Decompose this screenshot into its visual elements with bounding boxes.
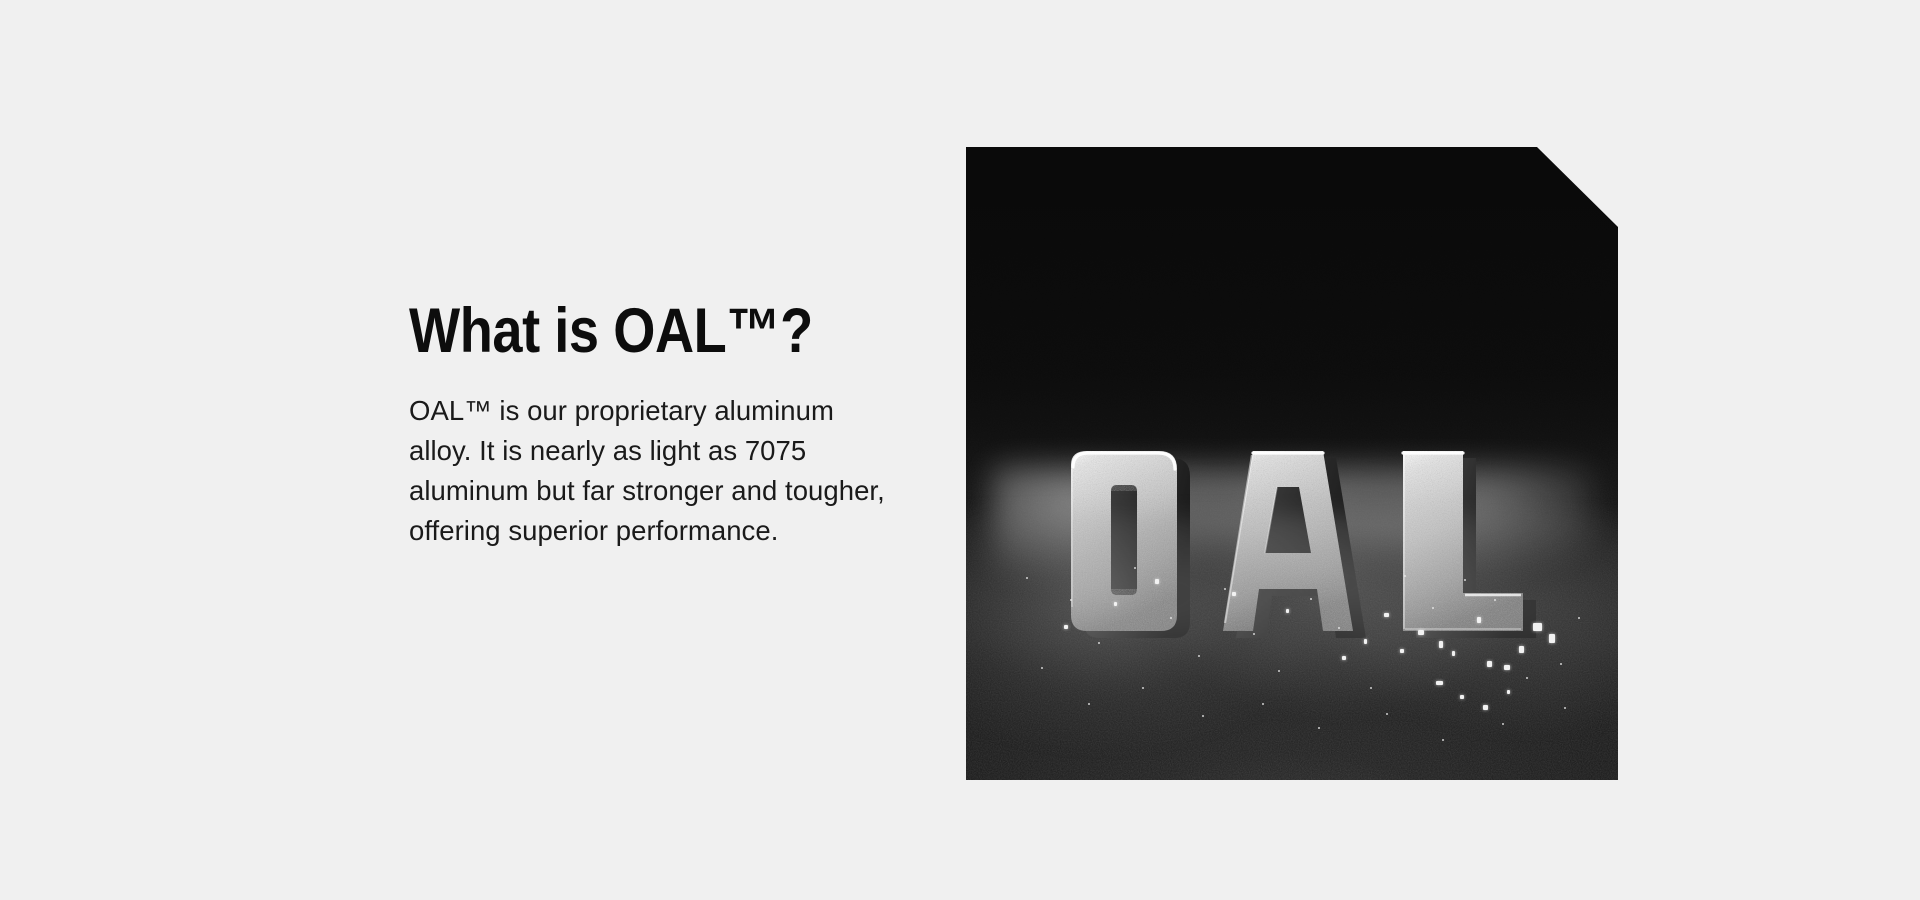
panel-background	[966, 147, 1618, 780]
oal-hero-image	[966, 147, 1618, 780]
feature-text-column: What is OAL™? OAL™ is our proprietary al…	[409, 300, 899, 551]
product-feature-section: What is OAL™? OAL™ is our proprietary al…	[0, 0, 1920, 900]
feature-description: OAL™ is our proprietary aluminum alloy. …	[409, 391, 889, 551]
page-title: What is OAL™?	[409, 300, 830, 363]
